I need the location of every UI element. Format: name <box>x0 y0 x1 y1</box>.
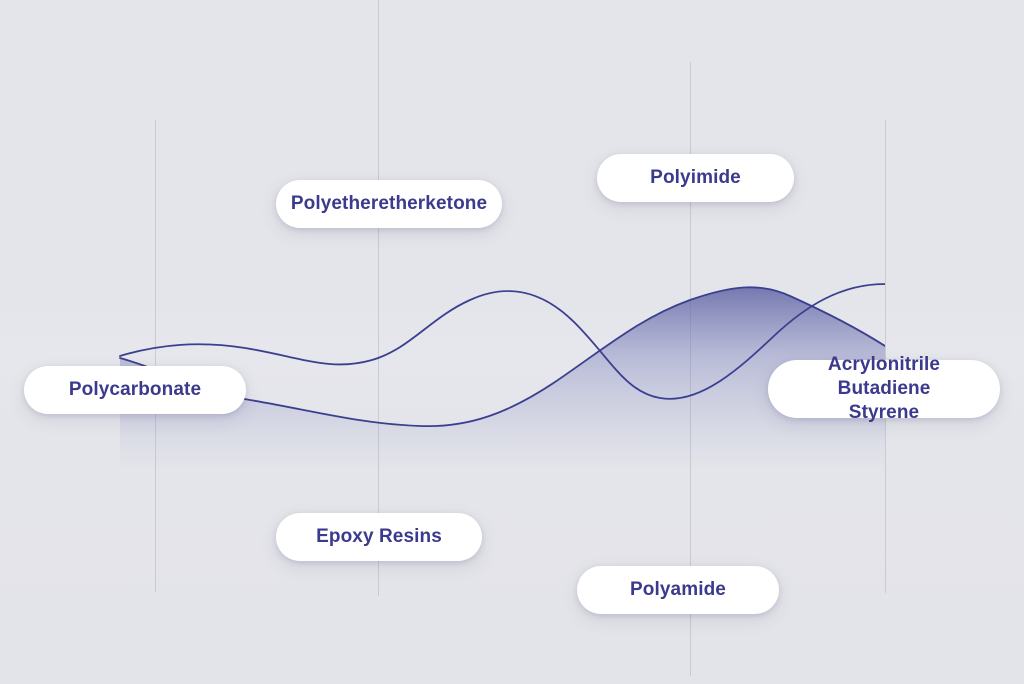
label-polyamide[interactable]: Polyamide <box>577 566 779 614</box>
label-polyimide[interactable]: Polyimide <box>597 154 794 202</box>
label-epoxy-resins[interactable]: Epoxy Resins <box>276 513 482 561</box>
label-polyetheretherketone[interactable]: Polyetheretherketone <box>276 180 502 228</box>
label-acrylonitrile-butadiene-styrene[interactable]: Acrylonitrile Butadiene Styrene <box>768 360 1000 418</box>
label-polycarbonate[interactable]: Polycarbonate <box>24 366 246 414</box>
wave-area-chart <box>0 0 1024 684</box>
chart-canvas: Polycarbonate Polyetheretherketone Polyi… <box>0 0 1024 684</box>
